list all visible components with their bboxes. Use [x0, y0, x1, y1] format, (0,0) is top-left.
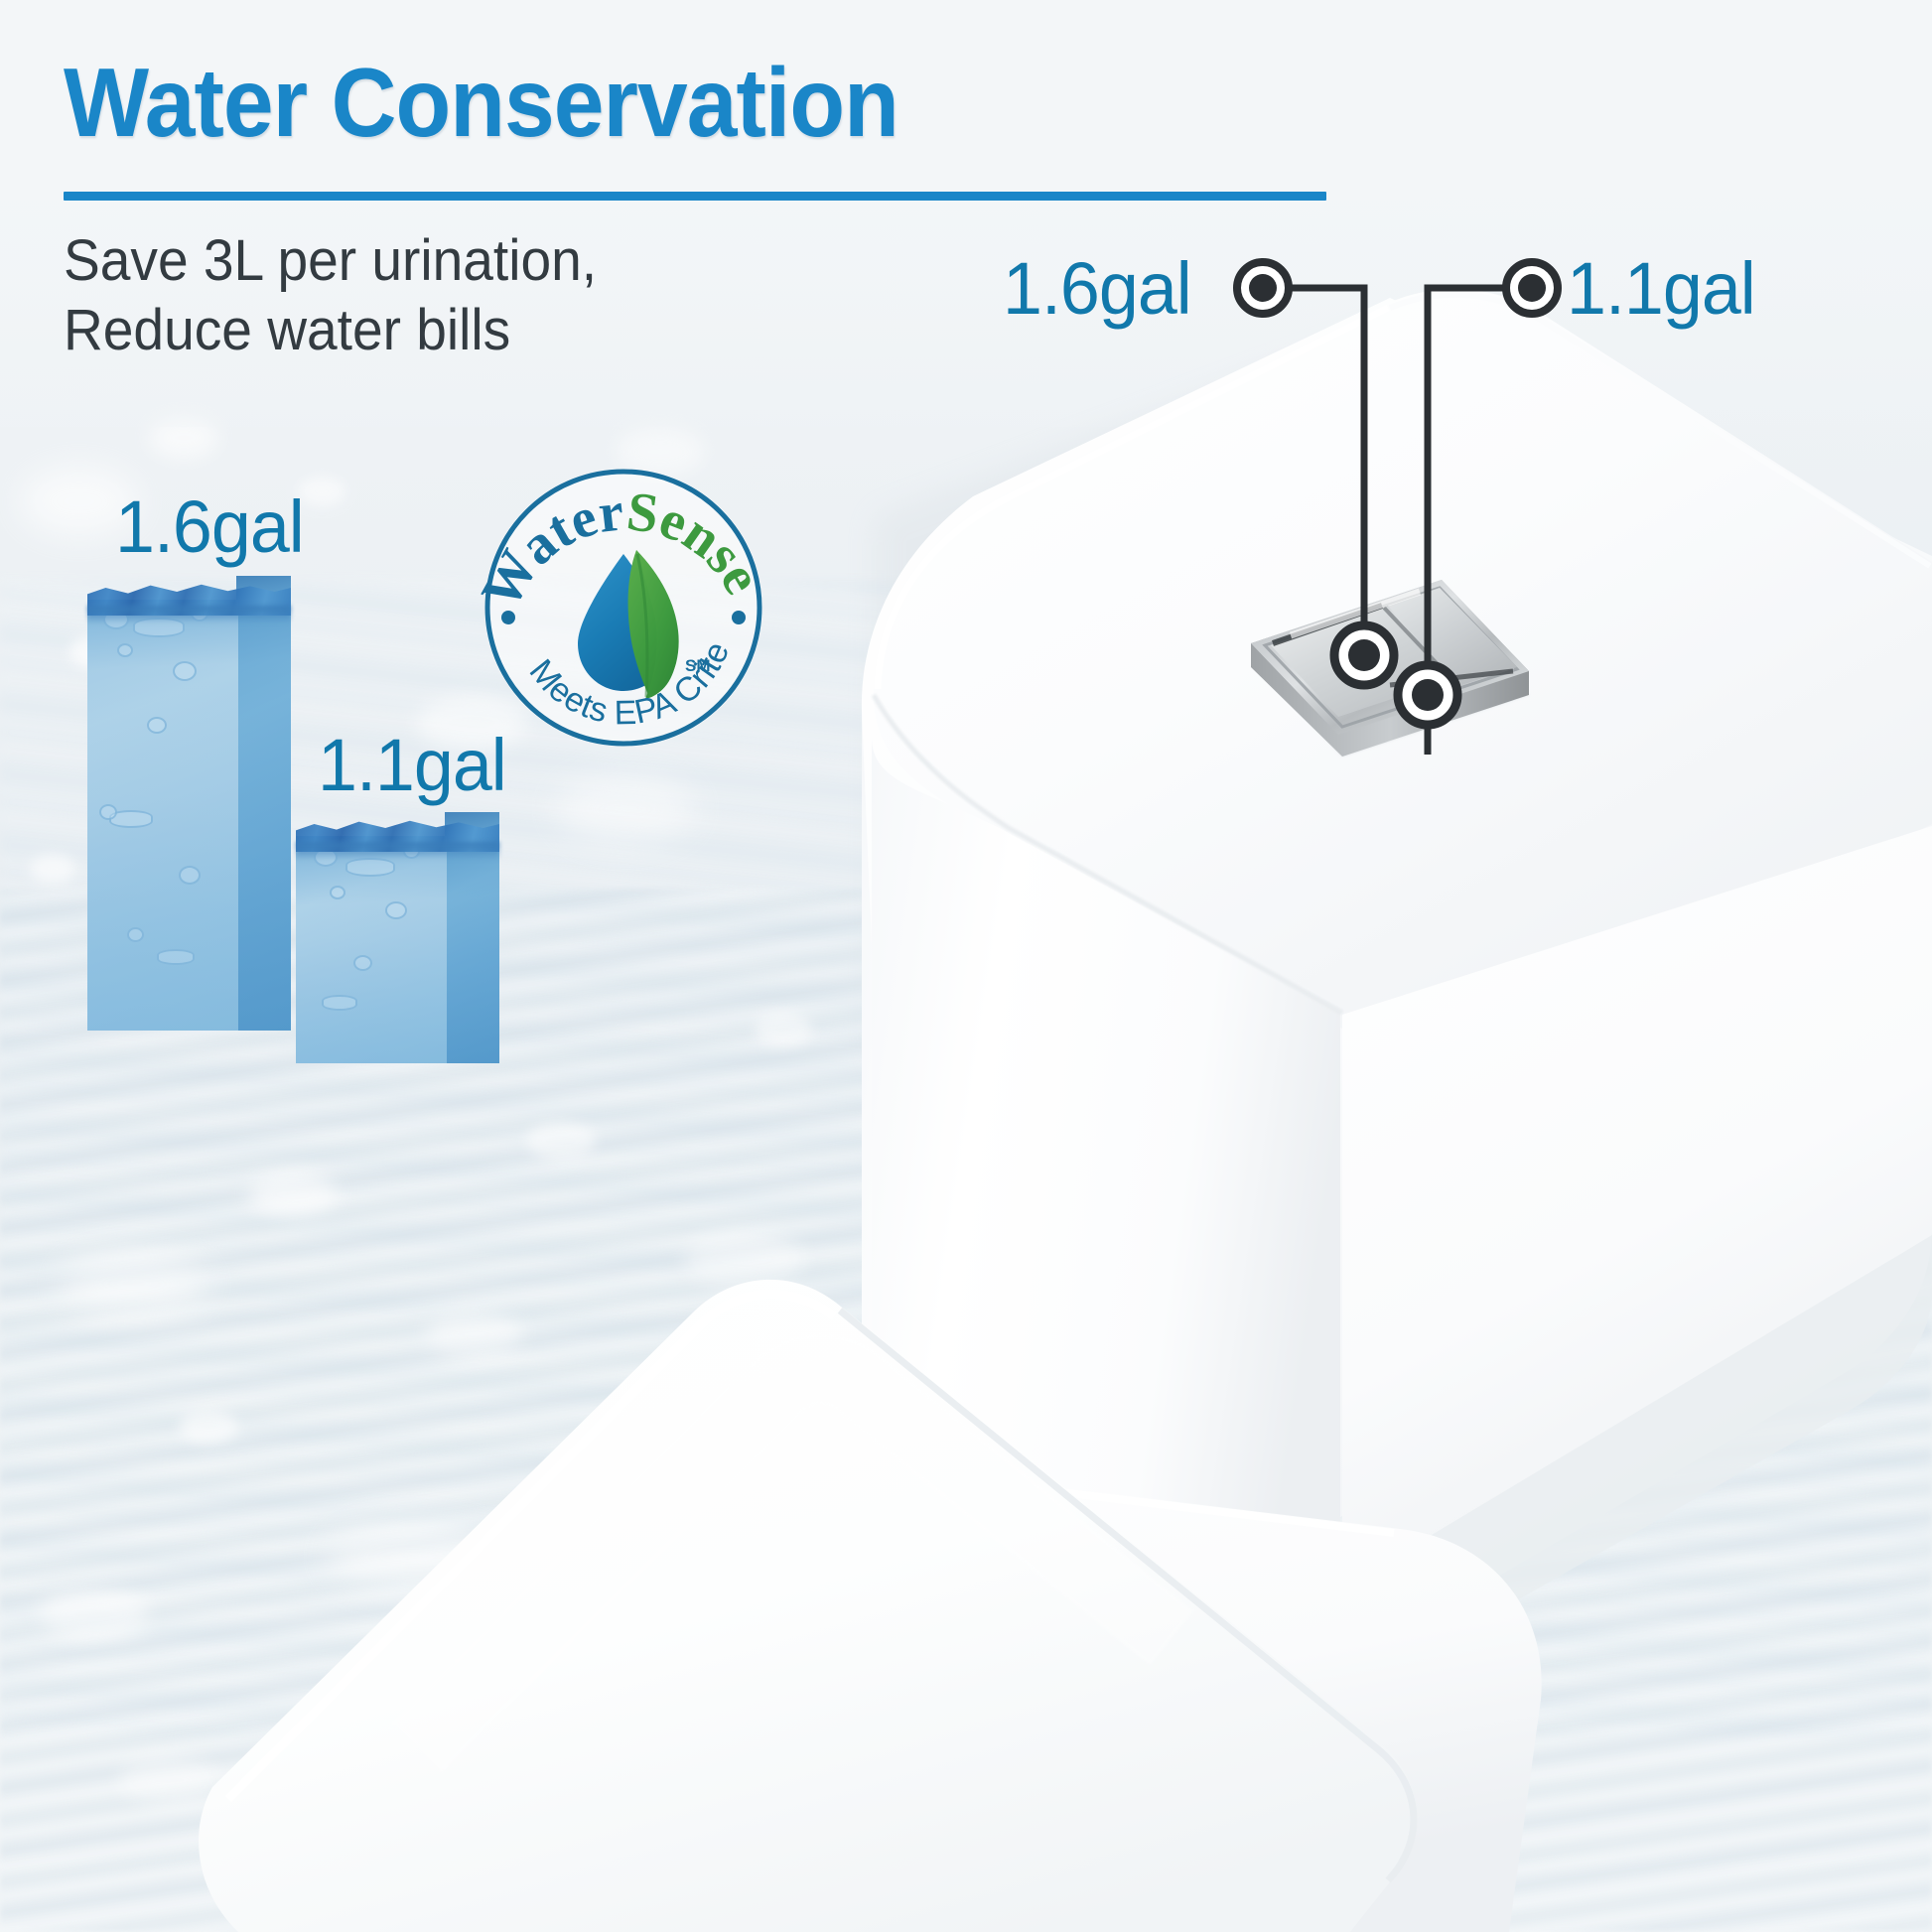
infographic-canvas: 1.6gal 1.1gal Water Conservation Save 3L… [0, 0, 1932, 1932]
callout-label-half-flush: 1.1gal [1567, 246, 1755, 331]
bar-half-flush [296, 812, 499, 1063]
bar-label-half-flush: 1.1gal [318, 723, 506, 807]
bar-top-surface [87, 576, 291, 616]
bar-front-face [87, 600, 238, 1031]
title-underline [64, 192, 1326, 201]
bar-top-surface [296, 812, 499, 852]
bar-full-flush [87, 576, 291, 1031]
background-water-waves [0, 889, 1932, 1932]
page-subtitle: Save 3L per urination, Reduce water bill… [64, 226, 597, 365]
bar-front-face [296, 836, 447, 1063]
page-title: Water Conservation [64, 52, 898, 154]
bar-label-full-flush: 1.6gal [115, 484, 304, 569]
callout-label-full-flush: 1.6gal [1003, 246, 1191, 331]
bar-side-face [236, 576, 291, 1031]
watersense-badge: WaterSense SM Meets EPA Criteria [475, 459, 772, 757]
